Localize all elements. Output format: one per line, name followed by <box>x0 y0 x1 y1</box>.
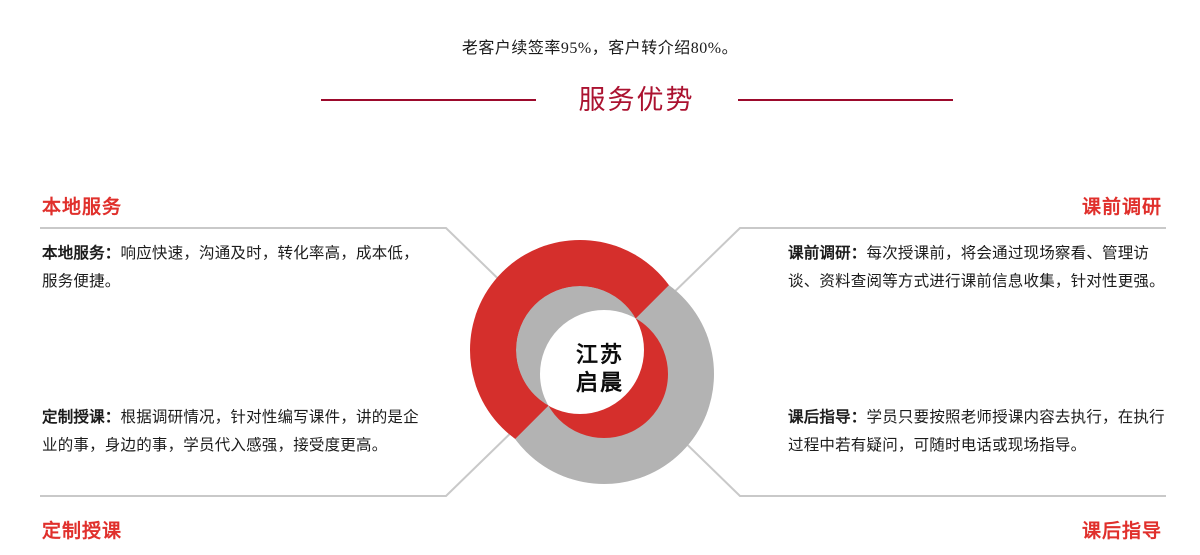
quadrant-label-top-right: 课前调研： <box>788 245 867 262</box>
quadrant-heading-top-left: 本地服务 <box>42 192 122 219</box>
quadrant-heading-bottom-left: 定制授课 <box>42 516 122 543</box>
logo-text-line1: 江苏 <box>576 341 624 369</box>
title-rule-left <box>321 99 536 101</box>
page-tagline: 老客户续签率95%，客户转介绍80%。 <box>0 34 1200 58</box>
logo-text: 江苏 启晨 <box>468 238 716 486</box>
section-title: 服务优势 <box>579 87 695 114</box>
section-title-bar: 服务优势 <box>0 80 1200 120</box>
title-rule-right <box>738 99 953 101</box>
quadrant-heading-top-right: 课前调研 <box>1082 192 1162 219</box>
quadrant-label-bottom-right: 课后指导： <box>788 409 867 426</box>
quadrant-body-bottom-left: 定制授课：根据调研情况，针对性编写课件，讲的是企业的事，身边的事，学员代入感强，… <box>42 404 434 460</box>
quadrant-body-bottom-right: 课后指导：学员只要按照老师授课内容去执行，在执行过程中若有疑问，可随时电话或现场… <box>788 404 1170 460</box>
quadrant-body-top-left: 本地服务：响应快速，沟通及时，转化率高，成本低，服务便捷。 <box>42 240 434 296</box>
quadrant-heading-bottom-right: 课后指导 <box>1082 516 1162 543</box>
quadrant-label-bottom-left: 定制授课： <box>42 409 121 426</box>
company-logo: 江苏 启晨 <box>468 238 716 486</box>
quadrant-label-top-left: 本地服务： <box>42 245 121 262</box>
logo-text-line2: 启晨 <box>576 369 624 397</box>
quadrant-body-top-right: 课前调研：每次授课前，将会通过现场察看、管理访谈、资料查阅等方式进行课前信息收集… <box>788 240 1170 296</box>
